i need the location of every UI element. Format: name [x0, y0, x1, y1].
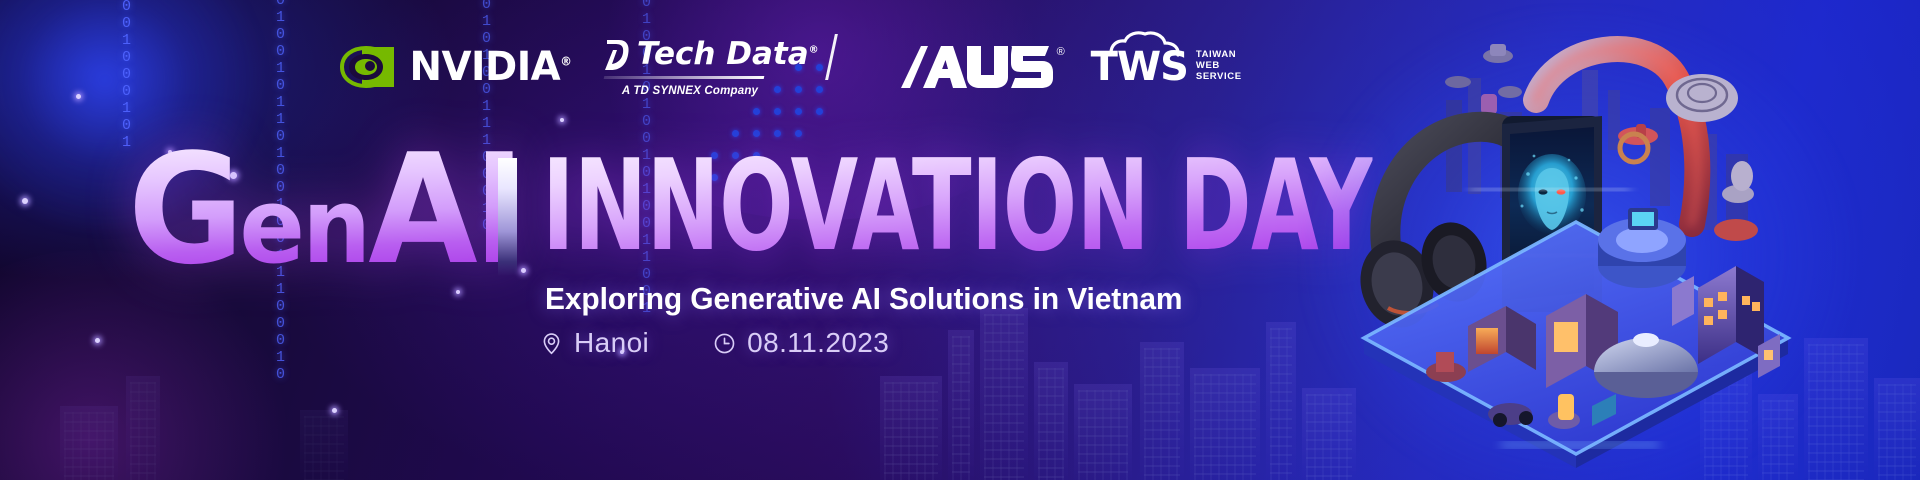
- map-pin-icon: [540, 332, 563, 355]
- genai-en: en: [239, 165, 368, 287]
- banner-subtitle: Exploring Generative AI Solutions in Vie…: [545, 281, 1182, 317]
- title-divider-bar: [498, 158, 517, 276]
- clock-icon: [713, 332, 736, 355]
- page-title-innovation-day: INNOVATION DAY: [542, 152, 1372, 260]
- page-title-genai: GenAI: [128, 148, 521, 273]
- genai-g: G: [128, 121, 239, 298]
- isometric-diorama-icon: [1350, 16, 1802, 468]
- event-date: 08.11.2023: [713, 327, 889, 359]
- event-meta-row: Hanoi 08.11.2023: [540, 327, 889, 359]
- ai-tech-city-illustration: [1350, 16, 1802, 468]
- date-label: 08.11.2023: [747, 327, 889, 359]
- event-location: Hanoi: [540, 327, 649, 359]
- genai-innovation-day-banner: 01001000101 1101001011010010011100010 10…: [0, 0, 1920, 480]
- location-label: Hanoi: [574, 327, 649, 359]
